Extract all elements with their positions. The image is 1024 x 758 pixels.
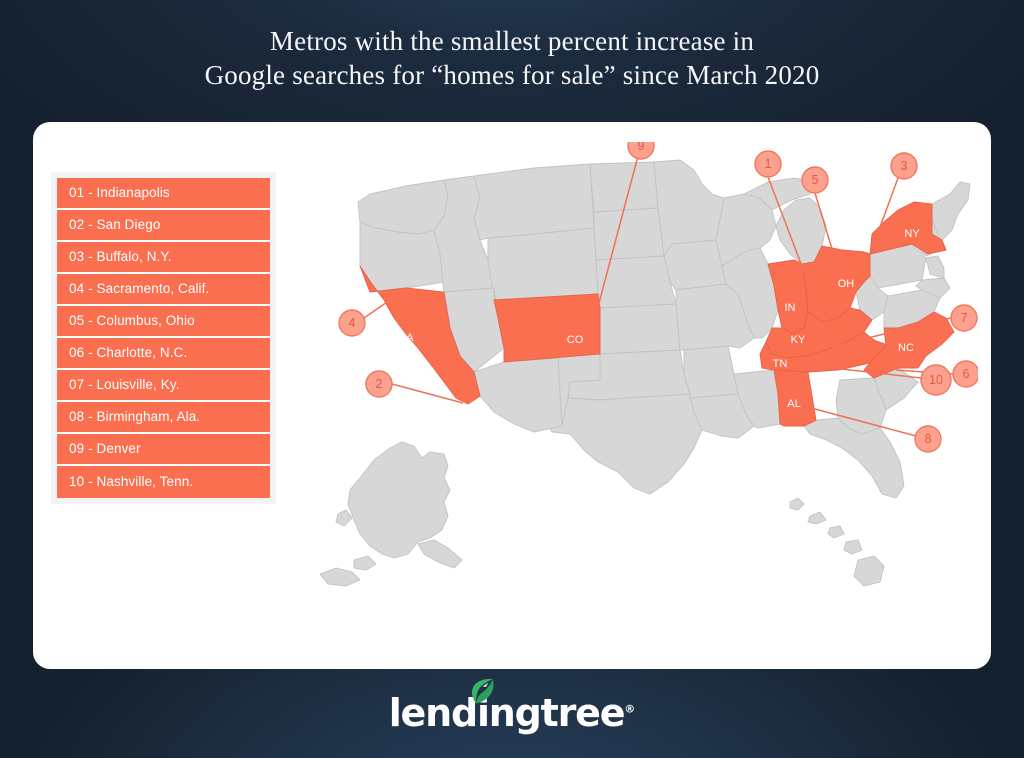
map-marker-7[interactable]: 7 bbox=[951, 305, 977, 331]
legend-item-07[interactable]: 07 - Louisville, Ky. bbox=[57, 370, 270, 402]
state-label-in: IN bbox=[785, 302, 796, 314]
legend-panel: 01 - Indianapolis 02 - San Diego 03 - Bu… bbox=[51, 172, 276, 504]
state-colorado bbox=[494, 294, 600, 362]
map-state-hawaii bbox=[790, 498, 884, 586]
content-card: 01 - Indianapolis 02 - San Diego 03 - Bu… bbox=[33, 122, 991, 669]
legend-item-label: 04 - Sacramento, Calif. bbox=[69, 282, 209, 296]
legend-item-label: 02 - San Diego bbox=[69, 218, 160, 232]
lendingtree-logo-text: lendingtree bbox=[389, 691, 625, 735]
state-label-ny: NY bbox=[904, 228, 920, 240]
legend-item-label: 05 - Columbus, Ohio bbox=[69, 314, 195, 328]
legend-item-09[interactable]: 09 - Denver bbox=[57, 434, 270, 466]
map-marker-label: 2 bbox=[376, 377, 383, 391]
page-title-line-1: Metros with the smallest percent increas… bbox=[0, 24, 1024, 58]
legend-item-label: 01 - Indianapolis bbox=[69, 186, 170, 200]
map-marker-2[interactable]: 2 bbox=[366, 371, 392, 397]
map-marker-4[interactable]: 4 bbox=[339, 310, 365, 336]
map-marker-label: 9 bbox=[638, 142, 645, 153]
map-marker-label: 3 bbox=[901, 159, 908, 173]
legend-item-06[interactable]: 06 - Charlotte, N.C. bbox=[57, 338, 270, 370]
state-label-ky: KY bbox=[791, 334, 806, 346]
legend-item-01[interactable]: 01 - Indianapolis bbox=[57, 178, 270, 210]
legend-item-label: 03 - Buffalo, N.Y. bbox=[69, 250, 172, 264]
lendingtree-logo[interactable]: lendingtree® bbox=[389, 694, 636, 732]
legend-item-04[interactable]: 04 - Sacramento, Calif. bbox=[57, 274, 270, 306]
state-label-oh: OH bbox=[838, 278, 855, 290]
legend-item-05[interactable]: 05 - Columbus, Ohio bbox=[57, 306, 270, 338]
legend-item-label: 07 - Louisville, Ky. bbox=[69, 378, 180, 392]
map-marker-label: 6 bbox=[963, 367, 970, 381]
map-marker-label: 5 bbox=[812, 173, 819, 187]
us-map[interactable]: CA CO NY OH IN KY TN NC AL 1 2 bbox=[298, 142, 978, 652]
state-label-al: AL bbox=[787, 398, 800, 410]
map-marker-label: 1 bbox=[765, 157, 772, 171]
map-marker-8[interactable]: 8 bbox=[915, 426, 941, 452]
state-label-co: CO bbox=[567, 334, 584, 346]
legend-item-10[interactable]: 10 - Nashville, Tenn. bbox=[57, 466, 270, 498]
legend-item-label: 09 - Denver bbox=[69, 442, 141, 456]
footer-logo[interactable]: lendingtree® bbox=[0, 694, 1024, 732]
map-marker-label: 4 bbox=[349, 316, 356, 330]
trademark-symbol: ® bbox=[624, 702, 635, 715]
map-marker-5[interactable]: 5 bbox=[802, 167, 828, 193]
map-marker-6[interactable]: 6 bbox=[953, 361, 978, 387]
map-marker-1[interactable]: 1 bbox=[755, 151, 781, 177]
legend-item-label: 10 - Nashville, Tenn. bbox=[69, 475, 193, 489]
leader-line-4 bbox=[364, 300, 390, 318]
state-label-nc: NC bbox=[898, 342, 914, 354]
map-marker-3[interactable]: 3 bbox=[891, 153, 917, 179]
legend-item-label: 06 - Charlotte, N.C. bbox=[69, 346, 187, 360]
map-marker-label: 7 bbox=[961, 311, 968, 325]
leaf-icon bbox=[469, 677, 495, 705]
map-marker-10[interactable]: 10 bbox=[921, 365, 951, 395]
legend-item-02[interactable]: 02 - San Diego bbox=[57, 210, 270, 242]
map-marker-label: 10 bbox=[929, 373, 943, 387]
state-label-ca: CA bbox=[398, 332, 414, 344]
page-title-line-2: Google searches for “homes for sale” sin… bbox=[0, 58, 1024, 92]
page-title: Metros with the smallest percent increas… bbox=[0, 24, 1024, 92]
map-state-alaska bbox=[320, 442, 462, 586]
map-marker-label: 8 bbox=[925, 432, 932, 446]
legend-item-label: 08 - Birmingham, Ala. bbox=[69, 410, 200, 424]
map-marker-9[interactable]: 9 bbox=[628, 142, 654, 159]
legend-item-03[interactable]: 03 - Buffalo, N.Y. bbox=[57, 242, 270, 274]
legend-item-08[interactable]: 08 - Birmingham, Ala. bbox=[57, 402, 270, 434]
state-label-tn: TN bbox=[773, 358, 788, 370]
